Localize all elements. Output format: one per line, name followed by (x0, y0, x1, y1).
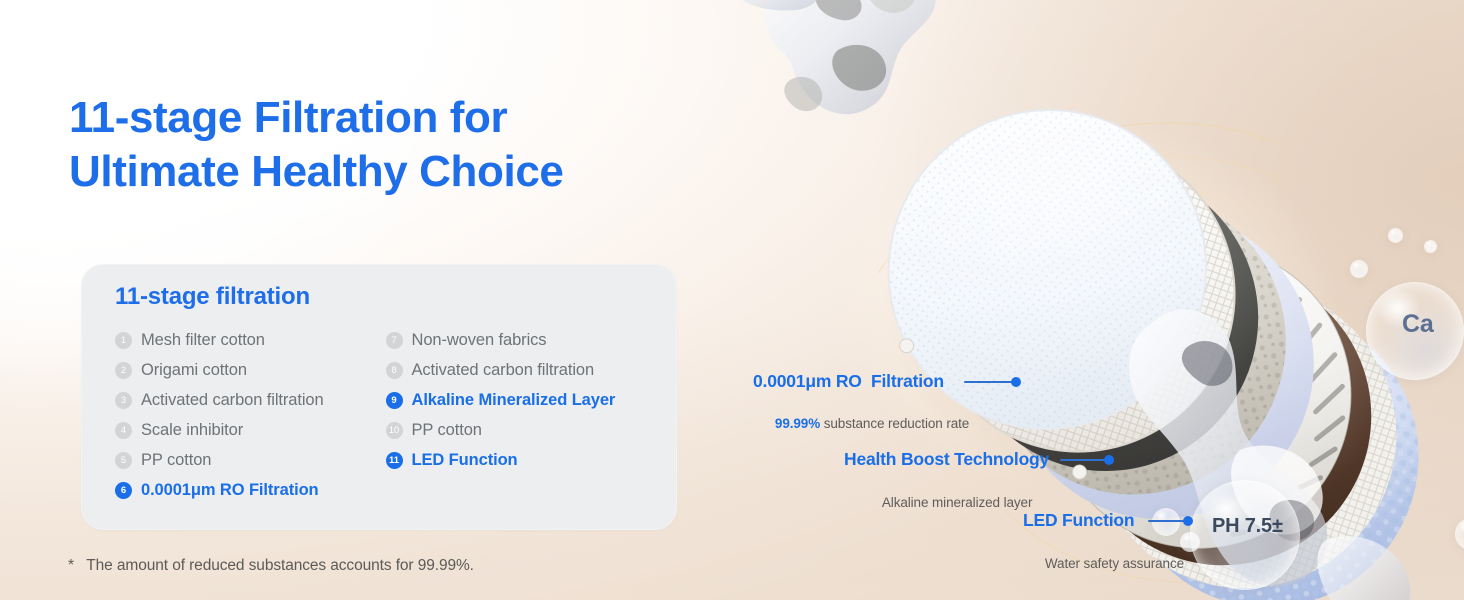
callout-sub-rest: substance reduction rate (820, 416, 969, 431)
list-item[interactable]: 4 Scale inhibitor (115, 415, 386, 445)
callout-health-boost: Health Boost Technology Alkaline mineral… (844, 449, 1049, 525)
callout-highlight-value: 99.99% (775, 416, 820, 431)
bubble-small-3 (1350, 260, 1368, 278)
callout-sub-rest: Water safety assurance (1045, 556, 1184, 571)
list-item-label: Activated carbon filtration (141, 391, 324, 410)
list-item-label: LED Function (412, 451, 518, 470)
list-item-label: Scale inhibitor (141, 421, 243, 440)
panel-title: 11-stage filtration (115, 283, 310, 311)
list-item-label: Activated carbon filtration (412, 361, 595, 380)
list-item-highlighted[interactable]: 9 Alkaline Mineralized Layer (386, 385, 657, 415)
page-title: 11-stage Filtration for Ultimate Healthy… (69, 91, 709, 198)
list-item-label: Mesh filter cotton (141, 331, 265, 350)
headline-line-1: 11-stage Filtration for (69, 93, 507, 142)
list-item[interactable]: 5 PP cotton (115, 445, 386, 475)
callout-leader-health (1060, 455, 1114, 465)
list-item-label: PP cotton (141, 451, 211, 470)
leader-dot (1011, 377, 1021, 387)
stage-number-badge: 9 (386, 392, 403, 409)
stage-number-badge: 11 (386, 452, 403, 469)
list-item-label: Alkaline Mineralized Layer (412, 391, 616, 410)
stage-number-badge: 7 (386, 332, 403, 349)
stage-number-badge: 5 (115, 452, 132, 469)
filtration-column-1: 1 Mesh filter cotton 2 Origami cotton 3 … (115, 325, 386, 505)
stage-number-badge: 3 (115, 392, 132, 409)
bubble-small-5 (1424, 240, 1437, 253)
stage-number-badge: 10 (386, 422, 403, 439)
list-item-highlighted[interactable]: 6 0.0001μm RO Filtration (115, 475, 386, 505)
list-item[interactable]: 10 PP cotton (386, 415, 657, 445)
stage-number-badge: 4 (115, 422, 132, 439)
list-item-label: Origami cotton (141, 361, 247, 380)
bubble-label-ca: Ca (1402, 310, 1434, 339)
callout-title: Health Boost Technology (844, 449, 1049, 470)
callout-leader-ro (964, 377, 1021, 387)
callout-leader-led (1148, 516, 1193, 526)
filtration-panel: 11-stage filtration 1 Mesh filter cotton… (81, 264, 677, 530)
list-item-highlighted[interactable]: 11 LED Function (386, 445, 657, 475)
list-item[interactable]: 7 Non-woven fabrics (386, 325, 657, 355)
list-item-label: 0.0001μm RO Filtration (141, 481, 319, 500)
stage-number-badge: 2 (115, 362, 132, 379)
filtration-list: 1 Mesh filter cotton 2 Origami cotton 3 … (115, 325, 656, 505)
filtration-column-2: 7 Non-woven fabrics 8 Activated carbon f… (386, 325, 657, 505)
water-splash (730, 0, 936, 114)
bubble-label-ph: PH 7.5± (1212, 515, 1283, 538)
leader-line (1148, 520, 1184, 522)
stage-number-badge: 6 (115, 482, 132, 499)
list-item[interactable]: 1 Mesh filter cotton (115, 325, 386, 355)
stage-number-badge: 1 (115, 332, 132, 349)
callout-subtitle: Alkaline mineralized layer (844, 480, 1049, 525)
callout-title: 0.0001μm RO Filtration (753, 371, 969, 392)
headline-line-2: Ultimate Healthy Choice (69, 145, 709, 199)
list-item[interactable]: 2 Origami cotton (115, 355, 386, 385)
list-item[interactable]: 8 Activated carbon filtration (386, 355, 657, 385)
callout-subtitle: Water safety assurance (1023, 541, 1184, 586)
leader-dot (1104, 455, 1114, 465)
callout-subtitle: 99.99% substance reduction rate (753, 401, 969, 446)
callout-ro-filtration: 0.0001μm RO Filtration 99.99% substance … (753, 371, 969, 446)
product-feature-banner: Ca PH 7.5± 11-stage Filtration for Ultim… (0, 0, 1464, 600)
bubble-small-4 (1388, 228, 1403, 243)
callout-sub-rest: Alkaline mineralized layer (882, 495, 1032, 510)
leader-line (964, 381, 1012, 383)
stage-number-badge: 8 (386, 362, 403, 379)
list-item[interactable]: 3 Activated carbon filtration (115, 385, 386, 415)
leader-line (1060, 459, 1105, 461)
footnote: * The amount of reduced substances accou… (68, 557, 474, 575)
leader-dot (1183, 516, 1193, 526)
list-item-label: PP cotton (412, 421, 482, 440)
list-item-label: Non-woven fabrics (412, 331, 547, 350)
